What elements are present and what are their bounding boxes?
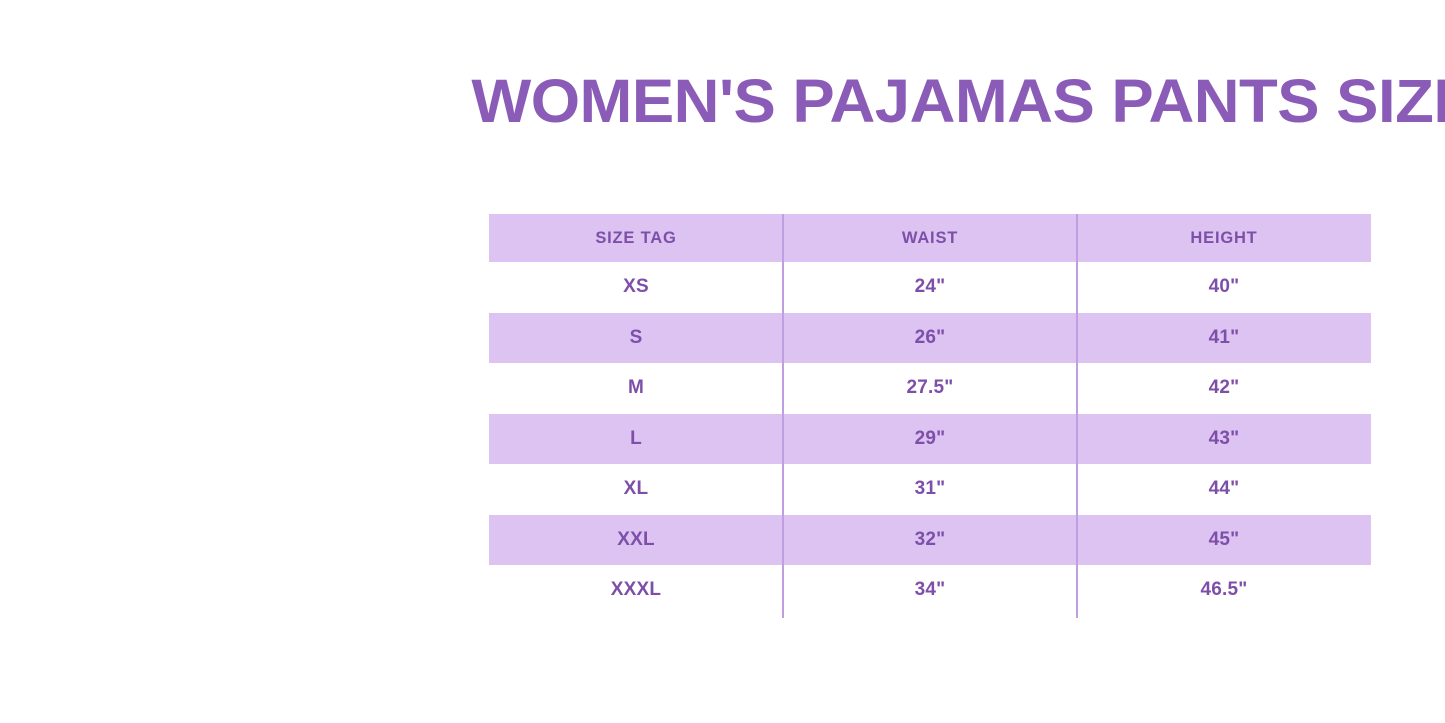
size-chart-canvas: WOMEN'S PAJAMAS PANTS SIZE CHART SIZE TA…: [0, 0, 1445, 723]
page-title: WOMEN'S PAJAMAS PANTS SIZE CHART: [471, 68, 1388, 134]
cell-size-tag: XS: [489, 262, 783, 313]
cell-size-tag: L: [489, 414, 783, 465]
column-divider-line: [782, 214, 784, 618]
cell-waist: 34": [783, 565, 1077, 616]
table-row: M 27.5" 42": [489, 363, 1371, 414]
cell-height: 42": [1077, 363, 1371, 414]
cell-height: 45": [1077, 515, 1371, 566]
column-divider-line: [1076, 214, 1078, 618]
cell-height: 41": [1077, 313, 1371, 364]
header-row: SIZE TAG WAIST HEIGHT: [489, 214, 1371, 262]
column-header-waist: WAIST: [783, 214, 1077, 262]
size-chart-table: SIZE TAG WAIST HEIGHT XS 24" 40" S 26" 4…: [489, 214, 1371, 616]
cell-height: 44": [1077, 464, 1371, 515]
cell-waist: 26": [783, 313, 1077, 364]
cell-height: 43": [1077, 414, 1371, 465]
cell-waist: 32": [783, 515, 1077, 566]
cell-waist: 24": [783, 262, 1077, 313]
table-row: L 29" 43": [489, 414, 1371, 465]
table-header: SIZE TAG WAIST HEIGHT: [489, 214, 1371, 262]
cell-height: 46.5": [1077, 565, 1371, 616]
table-row: XS 24" 40": [489, 262, 1371, 313]
cell-size-tag: S: [489, 313, 783, 364]
cell-waist: 27.5": [783, 363, 1077, 414]
table-row: XXXL 34" 46.5": [489, 565, 1371, 616]
cell-size-tag: XL: [489, 464, 783, 515]
cell-waist: 31": [783, 464, 1077, 515]
cell-size-tag: XXL: [489, 515, 783, 566]
table-row: XL 31" 44": [489, 464, 1371, 515]
cell-height: 40": [1077, 262, 1371, 313]
column-header-height: HEIGHT: [1077, 214, 1371, 262]
table-row: XXL 32" 45": [489, 515, 1371, 566]
cell-size-tag: XXXL: [489, 565, 783, 616]
cell-waist: 29": [783, 414, 1077, 465]
column-header-size-tag: SIZE TAG: [489, 214, 783, 262]
table-body: XS 24" 40" S 26" 41" M 27.5" 42" L 29" 4…: [489, 262, 1371, 616]
table-row: S 26" 41": [489, 313, 1371, 364]
cell-size-tag: M: [489, 363, 783, 414]
